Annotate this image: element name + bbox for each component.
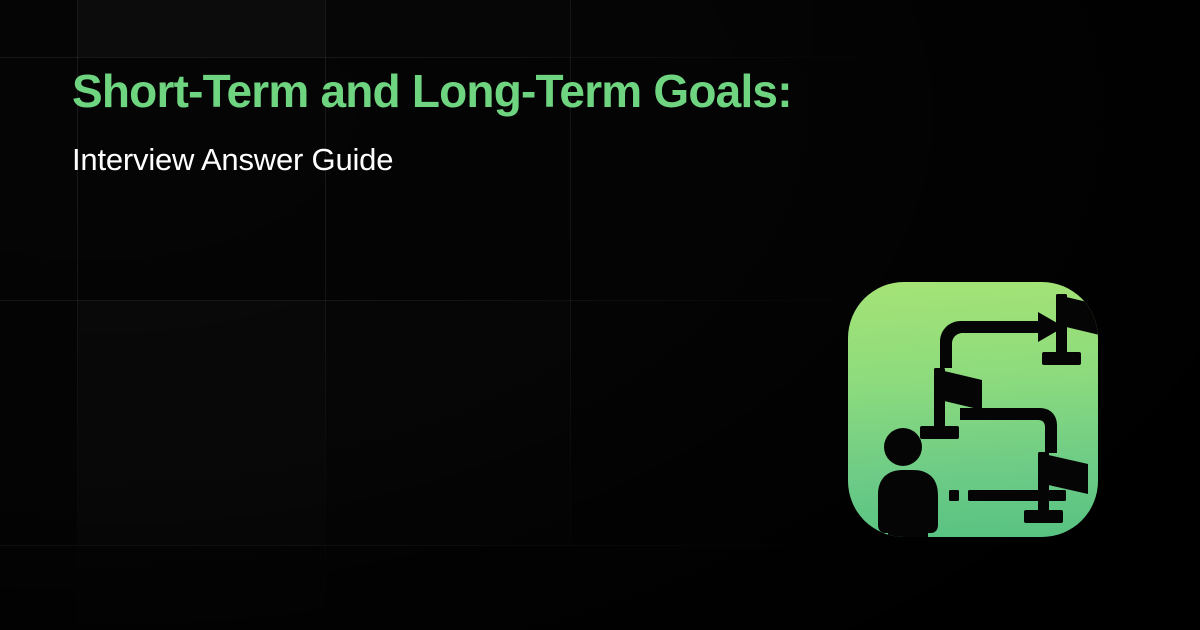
goals-roadmap-icon xyxy=(848,282,1098,537)
flag-milestone-bottom-right xyxy=(1024,452,1088,523)
person-silhouette-icon xyxy=(878,428,938,537)
dotted-path-dot xyxy=(949,490,959,501)
path-elbow-up-left xyxy=(960,408,1057,453)
flag-milestone-middle-left xyxy=(920,368,982,439)
page-subtitle: Interview Answer Guide xyxy=(72,141,902,180)
dotted-path-dash xyxy=(968,490,1066,501)
icon-glyph-group xyxy=(878,294,1098,537)
path-curve-arrow-up-right xyxy=(940,321,1023,368)
hero-text-block: Short-Term and Long-Term Goals: Intervie… xyxy=(72,64,902,180)
page-title: Short-Term and Long-Term Goals: xyxy=(72,64,902,118)
social-card-canvas: Short-Term and Long-Term Goals: Intervie… xyxy=(0,0,1200,630)
